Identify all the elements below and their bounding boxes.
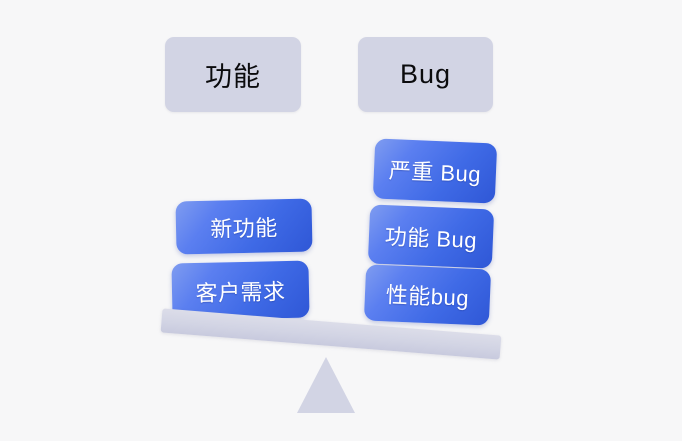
category-box-bug: Bug	[358, 37, 493, 112]
card-label-function-bug: 功能 Bug	[384, 219, 478, 255]
card-label-critical-bug: 严重 Bug	[388, 153, 482, 189]
card-performance-bug: 性能bug	[364, 264, 491, 325]
category-label-feature: 功能	[205, 55, 261, 94]
category-label-bug: Bug	[400, 59, 451, 90]
card-function-bug: 功能 Bug	[368, 204, 494, 268]
card-label-customer-demand: 客户需求	[195, 274, 286, 308]
card-label-new-feature: 新功能	[210, 210, 278, 243]
card-new-feature: 新功能	[175, 199, 312, 255]
seesaw-fulcrum-triangle-icon	[297, 357, 355, 413]
seesaw-diagram-canvas: 功能 Bug 严重 Bug 功能 Bug 性能bug 新功能 客户需求	[0, 0, 682, 441]
card-critical-bug: 严重 Bug	[373, 138, 497, 203]
card-label-performance-bug: 性能bug	[385, 277, 469, 312]
category-box-feature: 功能	[165, 37, 301, 112]
